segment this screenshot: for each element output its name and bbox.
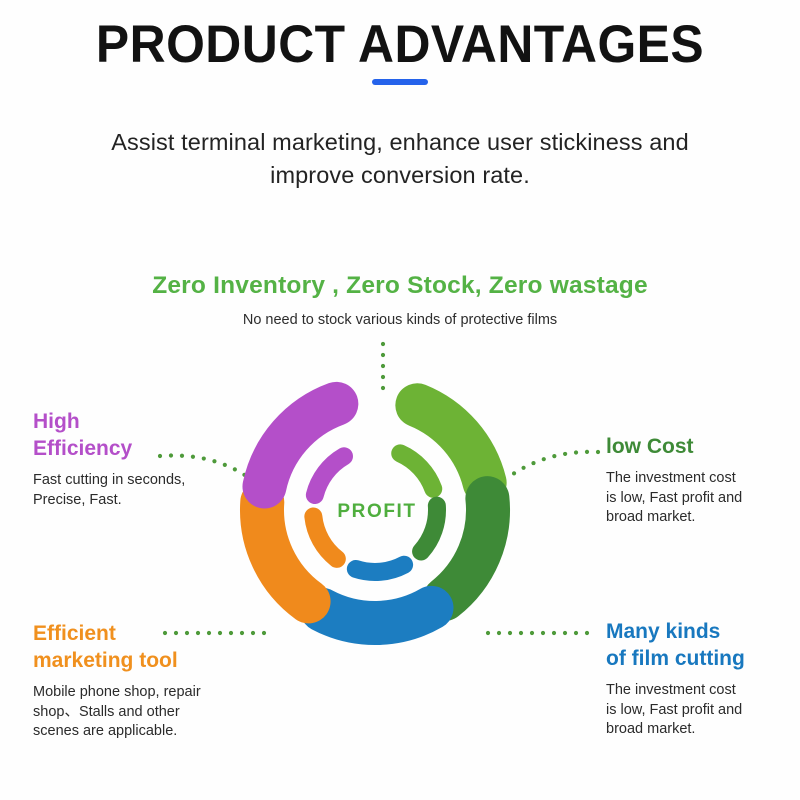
donut-segment[interactable] [313,516,336,558]
page-title: PRODUCT ADVANTAGES [24,14,776,75]
connector-dot [596,450,600,454]
donut-segment[interactable] [322,608,432,623]
callout-heading: Many kinds of film cutting [606,618,800,672]
page-subtitle: Assist terminal marketing, enhance user … [100,126,700,192]
callout-many-kinds-of-film-cutting: Many kinds of film cutting The investmen… [606,618,800,740]
callout-body: Fast cutting in seconds, Precise, Fast. [33,471,258,510]
donut-segment[interactable] [315,456,344,495]
donut-segment[interactable] [262,502,309,601]
connector-dot [585,631,589,635]
donut-segment[interactable] [400,453,433,488]
callout-body: Mobile phone shop, repair shop、Stalls an… [33,683,268,742]
zero-inventory-caption: No need to stock various kinds of protec… [60,312,740,328]
callout-heading: low Cost [606,433,796,460]
callout-body: The investment cost is low, Fast profit … [606,469,796,528]
zero-inventory-heading: Zero Inventory , Zero Stock, Zero wastag… [60,272,740,300]
title-accent-bar [372,79,428,85]
callout-low-cost: low Cost The investment cost is low, Fas… [606,433,796,528]
connector-dot [563,631,567,635]
callout-high-efficiency: High Efficiency Fast cutting in seconds,… [33,408,258,510]
donut-ring-outer [262,404,488,623]
connector-dot [563,452,567,456]
callout-efficient-marketing-tool: Efficient marketing tool Mobile phone sh… [33,620,268,742]
callout-body: The investment cost is low, Fast profit … [606,681,800,740]
infographic-page: PRODUCT ADVANTAGES Assist terminal marke… [0,0,800,800]
donut-segment[interactable] [356,565,404,572]
callout-heading: High Efficiency [33,408,258,462]
callout-heading: Efficient marketing tool [33,620,268,674]
connector-dot [574,631,578,635]
donut-segment[interactable] [421,506,437,552]
connector-dot [574,450,578,454]
connector-dot [585,450,589,454]
donut-segment[interactable] [445,498,488,599]
donut-ring-inner [313,453,437,572]
